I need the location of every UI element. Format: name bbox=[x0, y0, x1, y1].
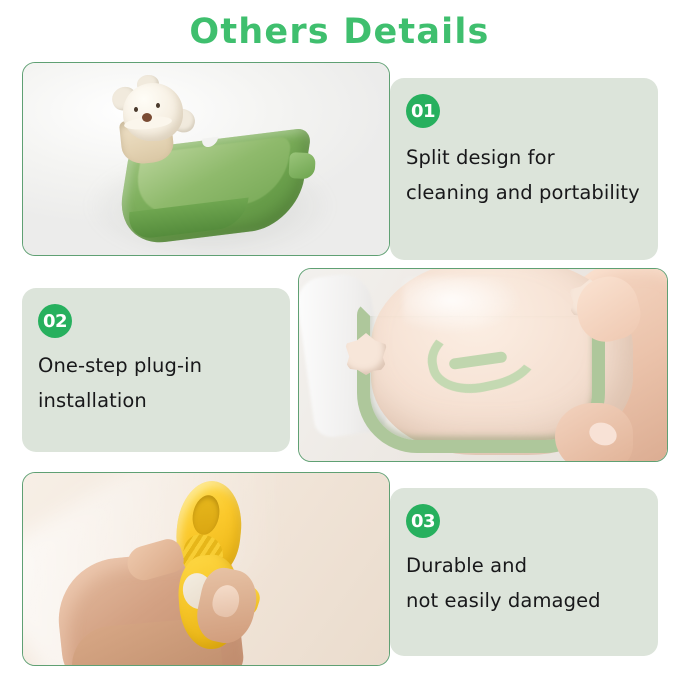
bear-eye-left bbox=[134, 107, 138, 112]
bear-eye-right bbox=[156, 103, 160, 108]
feature-panel-03: 03 Durable and not easily damaged bbox=[390, 488, 658, 656]
feature-panel-01: 01 Split design for cleaning and portabi… bbox=[390, 78, 658, 260]
product-details-infographic: Others Details 01 Split design for clean… bbox=[0, 0, 679, 679]
photo-1-scene bbox=[23, 63, 389, 255]
feature-image-02 bbox=[298, 268, 668, 462]
feature-badge-02: 02 bbox=[38, 304, 72, 338]
photo-3-scene bbox=[23, 473, 389, 665]
page-title: Others Details bbox=[0, 12, 679, 52]
feature-text-01: Split design for cleaning and portabilit… bbox=[406, 140, 646, 210]
bear-nose bbox=[142, 113, 152, 122]
feature-badge-03: 03 bbox=[406, 504, 440, 538]
feature-badge-01: 01 bbox=[406, 94, 440, 128]
feature-panel-02: 02 One-step plug-in installation bbox=[22, 288, 290, 452]
feature-text-02: One-step plug-in installation bbox=[38, 348, 278, 418]
photo-2-scene bbox=[299, 269, 667, 461]
feature-text-03: Durable and not easily damaged bbox=[406, 548, 646, 618]
bear-head bbox=[123, 83, 183, 141]
bear-teether bbox=[111, 77, 195, 163]
tray-side-tab bbox=[288, 152, 315, 179]
feature-image-01 bbox=[22, 62, 390, 256]
feature-image-03 bbox=[22, 472, 390, 666]
